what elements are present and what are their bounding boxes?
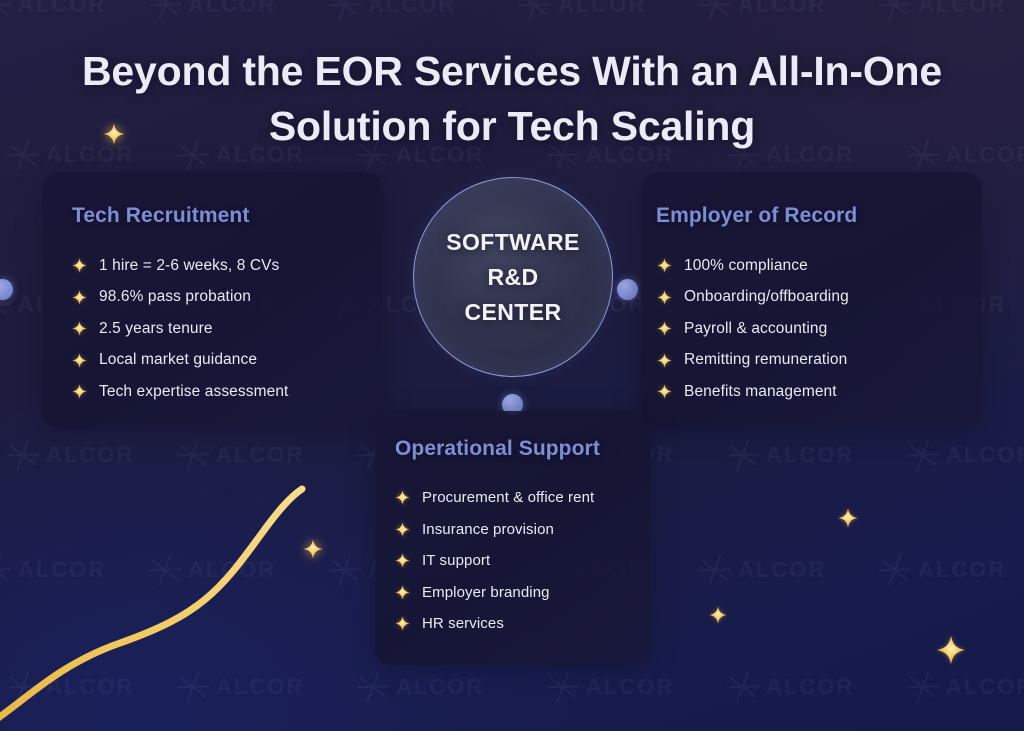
sparkle-star-icon bbox=[72, 321, 87, 336]
sparkle-star-icon bbox=[657, 353, 672, 368]
alcor-star-logo-icon bbox=[880, 0, 910, 20]
watermark-label: ALCOR bbox=[946, 674, 1024, 700]
sparkle-star-icon bbox=[72, 384, 87, 399]
sparkle-star-icon bbox=[303, 539, 323, 559]
list-item-label: Procurement & office rent bbox=[422, 489, 594, 506]
watermark-alcor: ALCOR bbox=[178, 440, 304, 470]
alcor-star-logo-icon bbox=[8, 440, 38, 470]
center-hub-line-2: R&D bbox=[487, 260, 538, 294]
list-item-label: IT support bbox=[422, 552, 490, 569]
watermark-alcor: ALCOR bbox=[880, 555, 1006, 585]
alcor-star-logo-icon bbox=[880, 555, 910, 585]
list-item-label: Remitting remuneration bbox=[684, 351, 847, 369]
watermark-label: ALCOR bbox=[18, 557, 106, 583]
alcor-star-logo-icon bbox=[0, 555, 10, 585]
watermark-alcor: ALCOR bbox=[880, 0, 1006, 20]
watermark-label: ALCOR bbox=[766, 442, 854, 468]
watermark-label: ALCOR bbox=[918, 557, 1006, 583]
list-item-label: Employer branding bbox=[422, 584, 550, 601]
watermark-label: ALCOR bbox=[738, 0, 826, 18]
list-item-label: Payroll & accounting bbox=[684, 320, 827, 338]
sparkle-star-icon bbox=[72, 290, 87, 305]
alcor-star-logo-icon bbox=[178, 672, 208, 702]
list-item-label: 2.5 years tenure bbox=[99, 320, 213, 338]
bullet-list-operational-support: Procurement & office rent Insurance prov… bbox=[395, 482, 594, 640]
sparkle-star-icon bbox=[657, 384, 672, 399]
list-item-label: Tech expertise assessment bbox=[99, 383, 288, 401]
watermark-alcor: ALCOR bbox=[728, 440, 854, 470]
center-hub: SOFTWARE R&D CENTER bbox=[398, 177, 628, 407]
list-item-label: 1 hire = 2-6 weeks, 8 CVs bbox=[99, 257, 279, 275]
watermark-label: ALCOR bbox=[216, 674, 304, 700]
alcor-star-logo-icon bbox=[908, 440, 938, 470]
sparkle-star-icon bbox=[657, 321, 672, 336]
connector-node-left bbox=[0, 279, 13, 300]
list-item: HR services bbox=[395, 608, 594, 640]
decorative-sparkle-icon bbox=[936, 635, 966, 670]
bullet-list-employer-of-record: 100% compliance Onboarding/offboarding P… bbox=[657, 250, 849, 408]
watermark-label: ALCOR bbox=[46, 442, 134, 468]
sparkle-star-icon bbox=[657, 258, 672, 273]
watermark-alcor: ALCOR bbox=[0, 555, 106, 585]
watermark-alcor: ALCOR bbox=[0, 0, 106, 20]
alcor-star-logo-icon bbox=[728, 440, 758, 470]
watermark-alcor: ALCOR bbox=[908, 440, 1024, 470]
watermark-label: ALCOR bbox=[586, 674, 674, 700]
page-title: Beyond the EOR Services With an All-In-O… bbox=[0, 44, 1024, 154]
center-hub-line-1: SOFTWARE bbox=[446, 225, 580, 259]
sparkle-star-icon bbox=[395, 522, 410, 537]
sparkle-star-icon bbox=[395, 553, 410, 568]
watermark-label: ALCOR bbox=[946, 442, 1024, 468]
list-item: Procurement & office rent bbox=[395, 482, 594, 514]
alcor-star-logo-icon bbox=[548, 672, 578, 702]
list-item: Employer branding bbox=[395, 577, 594, 609]
alcor-star-logo-icon bbox=[8, 672, 38, 702]
sparkle-star-icon bbox=[709, 606, 727, 624]
sparkle-star-icon bbox=[657, 353, 672, 368]
alcor-star-logo-icon bbox=[358, 672, 388, 702]
infographic-canvas: ALCORALCORALCORALCORALCORALCORALCORALCOR… bbox=[0, 0, 1024, 731]
alcor-star-logo-icon bbox=[150, 555, 180, 585]
sparkle-star-icon bbox=[657, 290, 672, 305]
sparkle-star-icon bbox=[72, 258, 87, 273]
list-item: Payroll & accounting bbox=[657, 313, 849, 345]
watermark-alcor: ALCOR bbox=[548, 672, 674, 702]
decorative-sparkle-icon bbox=[709, 606, 727, 629]
decorative-sparkle-icon bbox=[303, 539, 323, 564]
watermark-alcor: ALCOR bbox=[150, 555, 276, 585]
sparkle-star-icon bbox=[395, 490, 410, 505]
decorative-sparkle-icon bbox=[838, 508, 858, 533]
alcor-star-logo-icon bbox=[330, 555, 360, 585]
panel-title-operational-support: Operational Support bbox=[395, 437, 600, 461]
sparkle-star-icon bbox=[72, 384, 87, 399]
list-item-label: HR services bbox=[422, 615, 504, 632]
list-item: Onboarding/offboarding bbox=[657, 282, 849, 314]
sparkle-star-icon bbox=[936, 635, 966, 665]
center-hub-label: SOFTWARE R&D CENTER bbox=[413, 177, 613, 377]
panel-title-tech-recruitment: Tech Recruitment bbox=[72, 204, 249, 228]
panel-title-employer-of-record: Employer of Record bbox=[656, 204, 857, 228]
watermark-label: ALCOR bbox=[46, 674, 134, 700]
list-item: 98.6% pass probation bbox=[72, 282, 288, 314]
watermark-alcor: ALCOR bbox=[8, 672, 134, 702]
list-item: IT support bbox=[395, 545, 594, 577]
list-item: 2.5 years tenure bbox=[72, 313, 288, 345]
list-item-label: Onboarding/offboarding bbox=[684, 288, 849, 306]
watermark-label: ALCOR bbox=[918, 0, 1006, 18]
sparkle-star-icon bbox=[657, 384, 672, 399]
sparkle-star-icon bbox=[395, 616, 410, 631]
watermark-label: ALCOR bbox=[188, 557, 276, 583]
sparkle-star-icon bbox=[395, 522, 410, 537]
watermark-alcor: ALCOR bbox=[330, 0, 456, 20]
watermark-alcor: ALCOR bbox=[178, 672, 304, 702]
alcor-star-logo-icon bbox=[330, 0, 360, 20]
sparkle-star-icon bbox=[72, 353, 87, 368]
list-item-label: Benefits management bbox=[684, 383, 837, 401]
sparkle-star-icon bbox=[395, 616, 410, 631]
watermark-label: ALCOR bbox=[766, 674, 854, 700]
alcor-star-logo-icon bbox=[150, 0, 180, 20]
sparkle-star-icon bbox=[657, 321, 672, 336]
sparkle-star-icon bbox=[72, 353, 87, 368]
alcor-star-logo-icon bbox=[700, 0, 730, 20]
watermark-label: ALCOR bbox=[216, 442, 304, 468]
watermark-alcor: ALCOR bbox=[8, 440, 134, 470]
list-item-label: Insurance provision bbox=[422, 521, 554, 538]
alcor-star-logo-icon bbox=[0, 0, 10, 20]
list-item-label: 98.6% pass probation bbox=[99, 288, 251, 306]
watermark-alcor: ALCOR bbox=[728, 672, 854, 702]
sparkle-star-icon bbox=[72, 321, 87, 336]
watermark-alcor: ALCOR bbox=[520, 0, 646, 20]
list-item: Benefits management bbox=[657, 376, 849, 408]
alcor-star-logo-icon bbox=[728, 672, 758, 702]
sparkle-star-icon bbox=[395, 585, 410, 600]
watermark-alcor: ALCOR bbox=[700, 555, 826, 585]
watermark-label: ALCOR bbox=[738, 557, 826, 583]
sparkle-star-icon bbox=[838, 508, 858, 528]
watermark-label: ALCOR bbox=[558, 0, 646, 18]
list-item: Tech expertise assessment bbox=[72, 376, 288, 408]
bullet-list-tech-recruitment: 1 hire = 2-6 weeks, 8 CVs 98.6% pass pro… bbox=[72, 250, 288, 408]
alcor-star-logo-icon bbox=[178, 440, 208, 470]
sparkle-star-icon bbox=[395, 553, 410, 568]
sparkle-star-icon bbox=[72, 258, 87, 273]
watermark-label: ALCOR bbox=[188, 0, 276, 18]
list-item-label: Local market guidance bbox=[99, 351, 257, 369]
list-item: 1 hire = 2-6 weeks, 8 CVs bbox=[72, 250, 288, 282]
alcor-star-logo-icon bbox=[700, 555, 730, 585]
center-hub-line-3: CENTER bbox=[465, 295, 562, 329]
list-item: 100% compliance bbox=[657, 250, 849, 282]
watermark-label: ALCOR bbox=[18, 0, 106, 18]
alcor-star-logo-icon bbox=[520, 0, 550, 20]
watermark-label: ALCOR bbox=[396, 674, 484, 700]
sparkle-star-icon bbox=[657, 290, 672, 305]
list-item: Remitting remuneration bbox=[657, 345, 849, 377]
watermark-label: ALCOR bbox=[368, 0, 456, 18]
watermark-alcor: ALCOR bbox=[150, 0, 276, 20]
sparkle-star-icon bbox=[395, 490, 410, 505]
watermark-alcor: ALCOR bbox=[358, 672, 484, 702]
list-item: Insurance provision bbox=[395, 514, 594, 546]
alcor-star-logo-icon bbox=[908, 672, 938, 702]
watermark-alcor: ALCOR bbox=[908, 672, 1024, 702]
list-item: Local market guidance bbox=[72, 345, 288, 377]
sparkle-star-icon bbox=[657, 258, 672, 273]
sparkle-star-icon bbox=[72, 290, 87, 305]
list-item-label: 100% compliance bbox=[684, 257, 808, 275]
watermark-alcor: ALCOR bbox=[700, 0, 826, 20]
golden-growth-curve bbox=[0, 471, 420, 731]
sparkle-star-icon bbox=[395, 585, 410, 600]
